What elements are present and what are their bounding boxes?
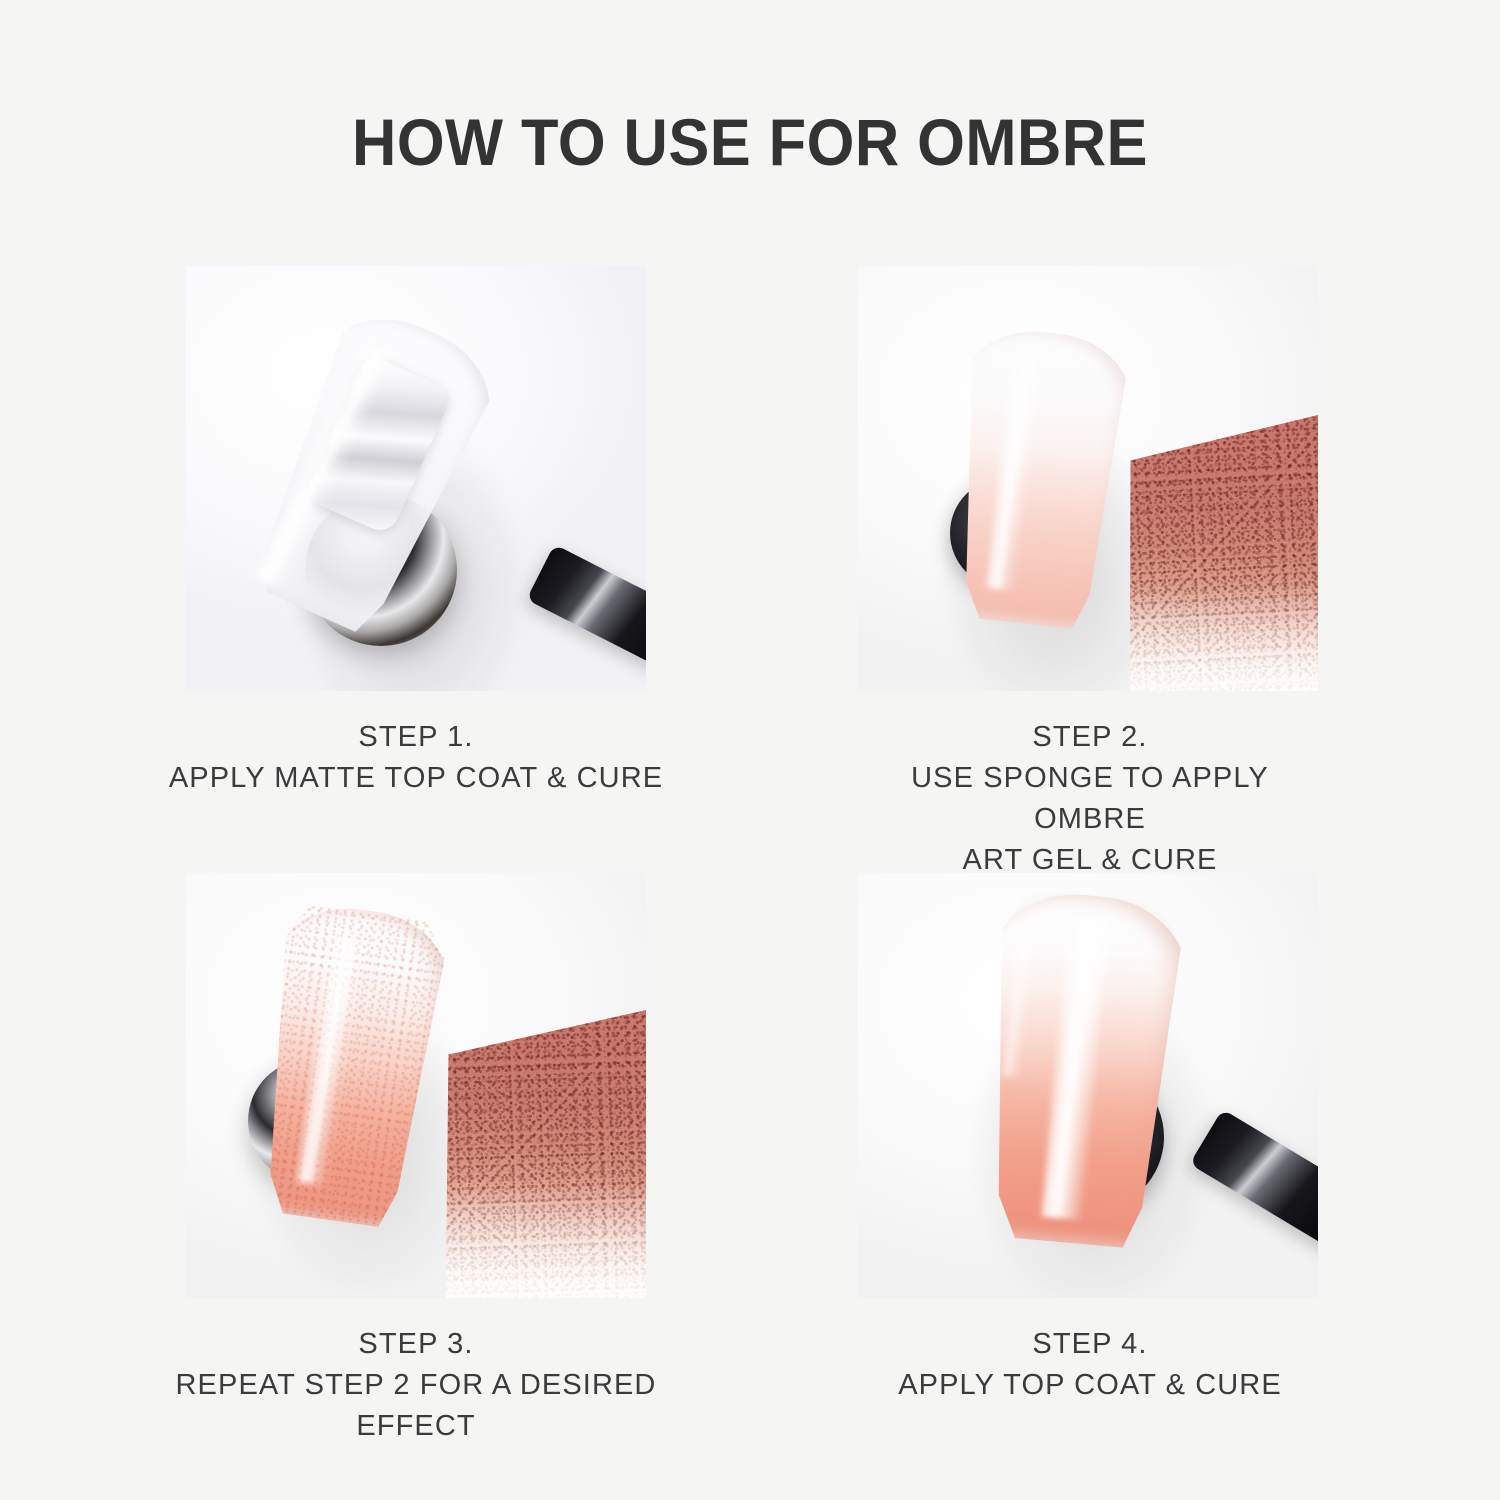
step-4-instruction: APPLY TOP COAT & CURE (898, 1369, 1282, 1401)
step-1-number: STEP 1. (358, 721, 473, 753)
step-2-photo (858, 266, 1318, 691)
step-1-instruction: APPLY MATTE TOP COAT & CURE (169, 762, 663, 794)
step-1-caption: STEP 1. APPLY MATTE TOP COAT & CURE (168, 717, 664, 799)
step-card-4: STEP 4. APPLY TOP COAT & CURE (858, 873, 1320, 1406)
step-card-2: STEP 2. USE SPONGE TO APPLY OMBRE ART GE… (858, 266, 1320, 881)
step-4-photo (858, 873, 1318, 1298)
step-3-photo (186, 873, 646, 1298)
step-3-caption: STEP 3. REPEAT STEP 2 FOR A DESIRED EFFE… (162, 1324, 670, 1447)
step-card-1: STEP 1. APPLY MATTE TOP COAT & CURE (186, 266, 664, 799)
step-2-caption: STEP 2. USE SPONGE TO APPLY OMBRE ART GE… (860, 717, 1320, 881)
step-1-photo (186, 266, 646, 691)
step-3-number: STEP 3. (358, 1328, 473, 1360)
step-4-caption: STEP 4. APPLY TOP COAT & CURE (860, 1324, 1320, 1406)
step-2-number: STEP 2. (1032, 721, 1147, 753)
step-2-instruction: USE SPONGE TO APPLY OMBRE ART GEL & CURE (911, 762, 1269, 876)
page-title: HOW TO USE FOR OMBRE (53, 104, 1448, 180)
step-3-instruction: REPEAT STEP 2 FOR A DESIRED EFFECT (176, 1369, 657, 1442)
step-card-3: STEP 3. REPEAT STEP 2 FOR A DESIRED EFFE… (186, 873, 670, 1447)
step-4-number: STEP 4. (1032, 1328, 1147, 1360)
